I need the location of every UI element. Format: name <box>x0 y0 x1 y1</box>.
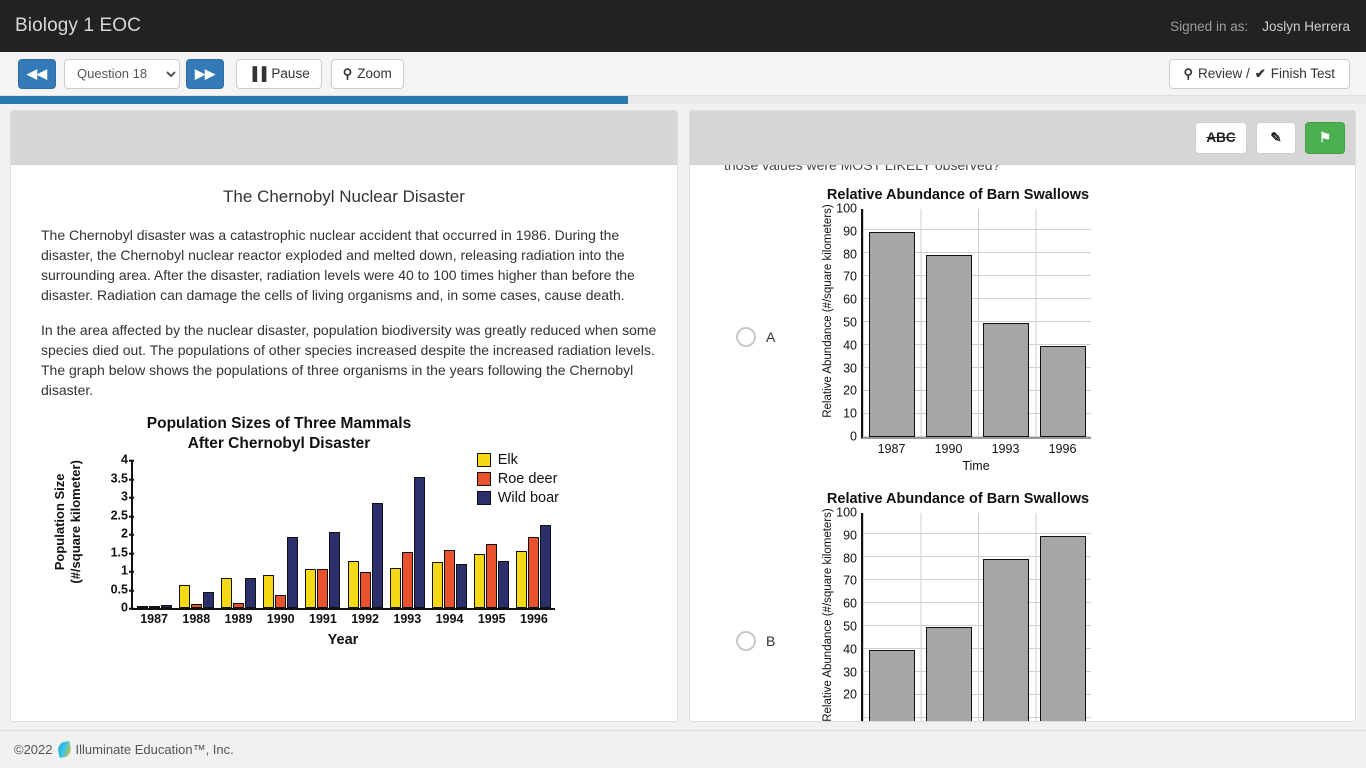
answer-choice-b-selector[interactable]: B <box>710 491 788 651</box>
question-panel-toolbar: ABC ✎ ⚑ <box>690 111 1355 165</box>
swallow-y-tick: 60 <box>843 293 863 307</box>
test-progress-bar <box>0 96 1366 104</box>
mammal-bar-group: 1988 <box>175 460 217 608</box>
mammal-legend-label: Roe deer <box>498 471 558 487</box>
swallow-bar <box>869 650 915 721</box>
page-footer: ©2022 Illuminate Education™, Inc. <box>0 730 1366 768</box>
choice-b-bars: 1987199019931996 <box>863 513 1091 721</box>
mammal-bar <box>137 606 148 608</box>
mammal-x-tick: 1993 <box>393 612 421 626</box>
swallow-x-tick: 1987 <box>878 442 906 456</box>
mammal-y-tick: 0 <box>121 601 133 615</box>
swallow-bar-cell: 1996 <box>1034 209 1091 437</box>
choice-b-y-axis-label: Relative Abundance (#/square kilometers) <box>822 501 834 721</box>
fast-forward-icon: ▶▶ <box>195 67 215 80</box>
swallow-bar <box>1040 346 1086 437</box>
mammal-chart-title-line2: After Chernobyl Disaster <box>59 434 499 454</box>
swallow-y-tick: 40 <box>843 643 863 657</box>
mammal-x-tick: 1992 <box>351 612 379 626</box>
mammal-bar <box>191 604 202 608</box>
passage-body: The Chernobyl Nuclear Disaster The Chern… <box>11 165 677 721</box>
swallow-y-tick: 30 <box>843 361 863 375</box>
swallow-bar <box>926 627 972 721</box>
mammal-ylabel-line2: (#/square kilometer) <box>68 437 84 607</box>
pause-label: Pause <box>271 66 309 81</box>
flag-question-button[interactable]: ⚑ <box>1305 122 1345 154</box>
mammal-bar <box>432 562 443 608</box>
company-name: Illuminate Education™, Inc. <box>76 742 234 757</box>
test-toolbar: ◀◀ Question 18 ▶▶ ▐▐ Pause ⚲ Zoom ⚲ Revi… <box>0 52 1366 96</box>
radio-button-b[interactable] <box>736 631 756 651</box>
zoom-label: Zoom <box>357 66 392 81</box>
mammal-bar-group: 1994 <box>428 460 470 608</box>
swallow-y-tick: 0 <box>850 430 863 444</box>
swallow-y-tick: 50 <box>843 316 863 330</box>
swallow-y-tick: 60 <box>843 597 863 611</box>
mammal-bar <box>456 564 467 608</box>
swallow-bar <box>1040 536 1086 721</box>
swallow-bar-cell: 1990 <box>920 209 977 437</box>
mammal-legend-item: Elk <box>477 452 559 468</box>
mammal-bar <box>179 585 190 608</box>
swallow-y-tick: 50 <box>843 620 863 634</box>
pause-icon: ▐▐ <box>248 67 266 80</box>
mammal-bar <box>233 603 244 609</box>
mammal-bar <box>149 606 160 608</box>
finish-test-label: Finish Test <box>1271 66 1335 81</box>
legend-swatch-icon <box>477 453 491 467</box>
mammal-y-tick: 1.5 <box>111 545 133 559</box>
mammal-bar <box>245 578 256 608</box>
mammal-y-tick: 4 <box>121 453 133 467</box>
mammal-bar <box>221 578 232 609</box>
mammal-bar-group: 1992 <box>344 460 386 608</box>
mammal-chart-title: Population Sizes of Three Mammals After … <box>59 414 499 454</box>
mammal-bar <box>275 595 286 609</box>
search-icon: ⚲ <box>1184 67 1194 80</box>
mammal-x-tick: 1989 <box>225 612 253 626</box>
app-header: Biology 1 EOC Signed in as: Joslyn Herre… <box>0 0 1366 52</box>
mammal-bar-group: 1991 <box>302 460 344 608</box>
mammal-bar <box>360 572 371 609</box>
magnifier-icon: ⚲ <box>343 67 353 80</box>
annotate-button[interactable]: ✎ <box>1256 122 1296 154</box>
swallow-x-tick: 1993 <box>992 442 1020 456</box>
swallow-y-tick: 10 <box>843 407 863 421</box>
swallow-y-tick: 20 <box>843 688 863 702</box>
mammal-bar <box>263 575 274 608</box>
answer-choice-b[interactable]: B Relative Abundance of Barn Swallows Re… <box>710 491 1335 721</box>
swallow-bar-cell: 1996 <box>1034 513 1091 721</box>
mammal-bar <box>329 532 340 608</box>
legend-swatch-icon <box>477 491 491 505</box>
flag-icon: ⚑ <box>1319 130 1331 146</box>
mammal-legend-label: Elk <box>498 452 518 468</box>
illuminate-logo-icon <box>56 741 72 758</box>
swallow-y-tick: 90 <box>843 529 863 543</box>
swallow-y-tick: 80 <box>843 551 863 565</box>
question-body: those values were MOST LIKELY observed? … <box>690 165 1355 721</box>
legend-swatch-icon <box>477 472 491 486</box>
swallow-y-tick: 70 <box>843 270 863 284</box>
previous-question-button[interactable]: ◀◀ <box>18 59 56 89</box>
mammal-bar <box>414 477 425 609</box>
swallow-y-tick: 80 <box>843 247 863 261</box>
mammal-bar <box>203 592 214 609</box>
passage-panel-toolbar <box>11 111 677 165</box>
swallow-x-tick: 1990 <box>935 442 963 456</box>
mammal-bar <box>444 550 455 608</box>
choice-b-plot-area: 1009080706050403020 1987199019931996 <box>861 513 1091 721</box>
choice-a-chart: Relative Abundance of Barn Swallows Rela… <box>808 187 1108 487</box>
mammal-y-tick: 0.5 <box>111 582 133 596</box>
mammal-bar <box>474 554 485 608</box>
mammal-x-tick: 1990 <box>267 612 295 626</box>
mammal-chart-x-axis-label: Year <box>131 632 555 648</box>
zoom-button[interactable]: ⚲ Zoom <box>331 59 404 89</box>
mammal-x-tick: 1996 <box>520 612 548 626</box>
question-stem: those values were MOST LIKELY observed? <box>724 165 1335 173</box>
choice-b-chart-title: Relative Abundance of Barn Swallows <box>808 491 1108 507</box>
mammal-x-tick: 1991 <box>309 612 337 626</box>
mammal-legend-label: Wild boar <box>498 490 559 506</box>
passage-title: The Chernobyl Nuclear Disaster <box>31 187 657 207</box>
test-progress-fill <box>0 96 628 104</box>
mammal-y-tick: 3 <box>121 490 133 504</box>
mammal-bar <box>402 552 413 609</box>
copyright-year: ©2022 <box>14 742 53 757</box>
mammal-bar <box>390 568 401 609</box>
swallow-y-tick: 100 <box>836 202 863 216</box>
mammal-ylabel-line1: Population Size <box>52 437 68 607</box>
mammal-chart-legend: ElkRoe deerWild boar <box>477 452 559 506</box>
mammal-bar <box>305 569 316 608</box>
answer-letter-a: A <box>766 329 775 345</box>
mammal-population-chart: Population Sizes of Three Mammals After … <box>31 414 561 654</box>
question-select[interactable]: Question 18 <box>64 59 180 89</box>
mammal-x-tick: 1987 <box>140 612 168 626</box>
swallow-y-tick: 40 <box>843 339 863 353</box>
mammal-bar <box>498 561 509 608</box>
mammal-y-tick: 1 <box>121 564 133 578</box>
swallow-bar <box>869 232 915 437</box>
question-panel: ABC ✎ ⚑ those values were MOST LIKELY ob… <box>689 110 1356 722</box>
mammal-bar-group: 1993 <box>386 460 428 608</box>
swallow-bar-cell: 1993 <box>977 209 1034 437</box>
choice-a-chart-title: Relative Abundance of Barn Swallows <box>808 187 1108 203</box>
signed-in-label: Signed in as: <box>1170 19 1248 34</box>
mammal-bar-group: 1989 <box>217 460 259 608</box>
pause-button[interactable]: ▐▐ Pause <box>236 59 322 89</box>
mammal-bar <box>161 605 172 608</box>
mammal-bar <box>528 537 539 608</box>
answer-choice-a-selector[interactable]: A <box>710 187 788 347</box>
mammal-bar <box>486 544 497 608</box>
mammal-bar <box>287 537 298 608</box>
choice-a-plot-area: 1009080706050403020100 1987199019931996 <box>861 209 1091 439</box>
choice-a-bars: 1987199019931996 <box>863 209 1091 437</box>
content-panels: The Chernobyl Nuclear Disaster The Chern… <box>0 104 1366 728</box>
mammal-bar <box>372 503 383 608</box>
signed-in-username: Joslyn Herrera <box>1262 19 1350 34</box>
swallow-bar-cell: 1990 <box>920 513 977 721</box>
mammal-legend-item: Roe deer <box>477 471 559 487</box>
signed-in-block: Signed in as: Joslyn Herrera <box>1170 19 1350 34</box>
rewind-icon: ◀◀ <box>27 67 47 80</box>
swallow-y-tick: 100 <box>836 506 863 520</box>
mammal-chart-title-line1: Population Sizes of Three Mammals <box>59 414 499 434</box>
swallow-y-tick: 70 <box>843 574 863 588</box>
swallow-bar <box>983 559 1029 721</box>
eliminate-answers-button[interactable]: ABC <box>1195 122 1247 154</box>
swallow-bar <box>926 255 972 437</box>
mammal-x-tick: 1988 <box>182 612 210 626</box>
mammal-x-tick: 1994 <box>436 612 464 626</box>
passage-paragraph-1: The Chernobyl disaster was a catastrophi… <box>41 225 657 306</box>
mammal-bar-group: 1987 <box>133 460 175 608</box>
mammal-y-tick: 2.5 <box>111 508 133 522</box>
mammal-y-tick: 2 <box>121 527 133 541</box>
mammal-bar <box>516 551 527 608</box>
choice-a-y-axis-label: Relative Abundance (#/square kilometers) <box>822 197 834 425</box>
radio-button-a[interactable] <box>736 327 756 347</box>
swallow-y-tick: 30 <box>843 665 863 679</box>
swallow-y-tick: 20 <box>843 384 863 398</box>
mammal-y-tick: 3.5 <box>111 471 133 485</box>
mammal-bar <box>348 561 359 608</box>
footer-copyright: ©2022 Illuminate Education™, Inc. <box>14 742 234 757</box>
app-title: Biology 1 EOC <box>15 15 141 37</box>
mammal-chart-y-axis-label: Population Size (#/square kilometer) <box>52 437 84 607</box>
answer-choice-a[interactable]: A Relative Abundance of Barn Swallows Re… <box>710 187 1335 487</box>
swallow-bar-cell: 1993 <box>977 513 1034 721</box>
choice-a-x-axis-label: Time <box>861 459 1091 473</box>
check-icon: ✔ <box>1255 67 1266 80</box>
swallow-bar <box>983 323 1029 437</box>
mammal-bar <box>540 525 551 608</box>
review-label: Review / <box>1198 66 1250 81</box>
swallow-y-tick: 90 <box>843 225 863 239</box>
next-question-button[interactable]: ▶▶ <box>186 59 224 89</box>
swallow-bar-cell: 1987 <box>863 209 920 437</box>
mammal-bar-group: 1990 <box>260 460 302 608</box>
choice-b-chart: Relative Abundance of Barn Swallows Rela… <box>808 491 1108 721</box>
mammal-x-tick: 1995 <box>478 612 506 626</box>
answer-letter-b: B <box>766 633 775 649</box>
mammal-legend-item: Wild boar <box>477 490 559 506</box>
swallow-x-tick: 1996 <box>1049 442 1077 456</box>
review-finish-test-button[interactable]: ⚲ Review / ✔ Finish Test <box>1169 59 1350 89</box>
passage-paragraph-2: In the area affected by the nuclear disa… <box>41 320 657 401</box>
swallow-bar-cell: 1987 <box>863 513 920 721</box>
pencil-square-icon: ✎ <box>1270 130 1281 146</box>
passage-panel: The Chernobyl Nuclear Disaster The Chern… <box>10 110 678 722</box>
mammal-bar <box>317 569 328 608</box>
